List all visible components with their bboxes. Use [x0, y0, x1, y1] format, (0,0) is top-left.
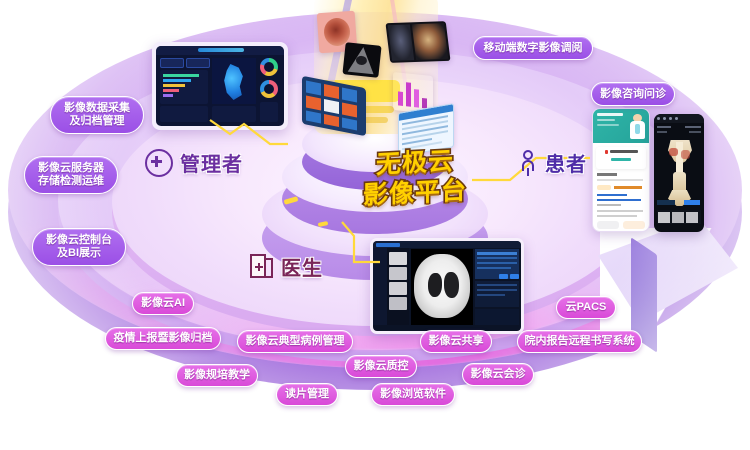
tag-admin-1[interactable]: 影像云服务器 存储检测运维	[24, 156, 118, 194]
tag-doctor-6[interactable]: 读片管理	[276, 383, 338, 406]
tag-doctor-5[interactable]: 影像云共享	[420, 330, 492, 353]
tag-doctor-0[interactable]: 影像云AI	[132, 292, 194, 315]
plus-circle-icon	[145, 149, 173, 177]
admin-dashboard-device	[152, 42, 288, 130]
tag-doctor-9[interactable]: 云PACS	[556, 296, 616, 319]
role-admin[interactable]: 管理者	[145, 148, 243, 177]
tag-doctor-1[interactable]: 疫情上报暨影像归档	[105, 327, 221, 350]
role-patient[interactable]: 患者	[518, 148, 587, 177]
page-title: 无极云 影像平台	[330, 144, 500, 213]
tag-doctor-10[interactable]: 院内报告远程书写系统	[517, 330, 642, 353]
tag-doctor-8[interactable]: 影像云会诊	[462, 363, 534, 386]
tag-doctor-3[interactable]: 影像规培教学	[176, 364, 258, 387]
tag-admin-0[interactable]: 影像数据采集 及归档管理	[50, 96, 144, 134]
role-doctor[interactable]: 医生	[250, 252, 323, 281]
tag-doctor-7[interactable]: 影像浏览软件	[371, 383, 455, 406]
ultrasound-thumbnail	[342, 42, 381, 78]
document-plus-icon	[250, 254, 274, 280]
role-doctor-label: 医生	[281, 252, 323, 281]
tag-patient-0[interactable]: 移动端数字影像调阅	[473, 36, 593, 60]
patient-3d-viewer-phone	[654, 114, 704, 232]
angiography-thumbnail	[385, 21, 450, 63]
tag-doctor-4[interactable]: 影像云质控	[345, 355, 417, 378]
connector-doctor	[340, 222, 400, 270]
tag-doctor-2[interactable]: 影像云典型病例管理	[237, 330, 353, 353]
infographic-canvas: 无极云 影像平台 管理者 患者 医生 影像数据采集 及归档管理 影像云服务器 存…	[0, 0, 750, 450]
tag-patient-1[interactable]: 影像咨询问诊	[591, 82, 675, 106]
person-icon	[518, 150, 538, 176]
patient-app-phone	[592, 108, 650, 232]
role-patient-label: 患者	[545, 148, 587, 177]
role-admin-label: 管理者	[180, 148, 243, 177]
tag-admin-2[interactable]: 影像云控制台 及BI展示	[32, 228, 126, 266]
